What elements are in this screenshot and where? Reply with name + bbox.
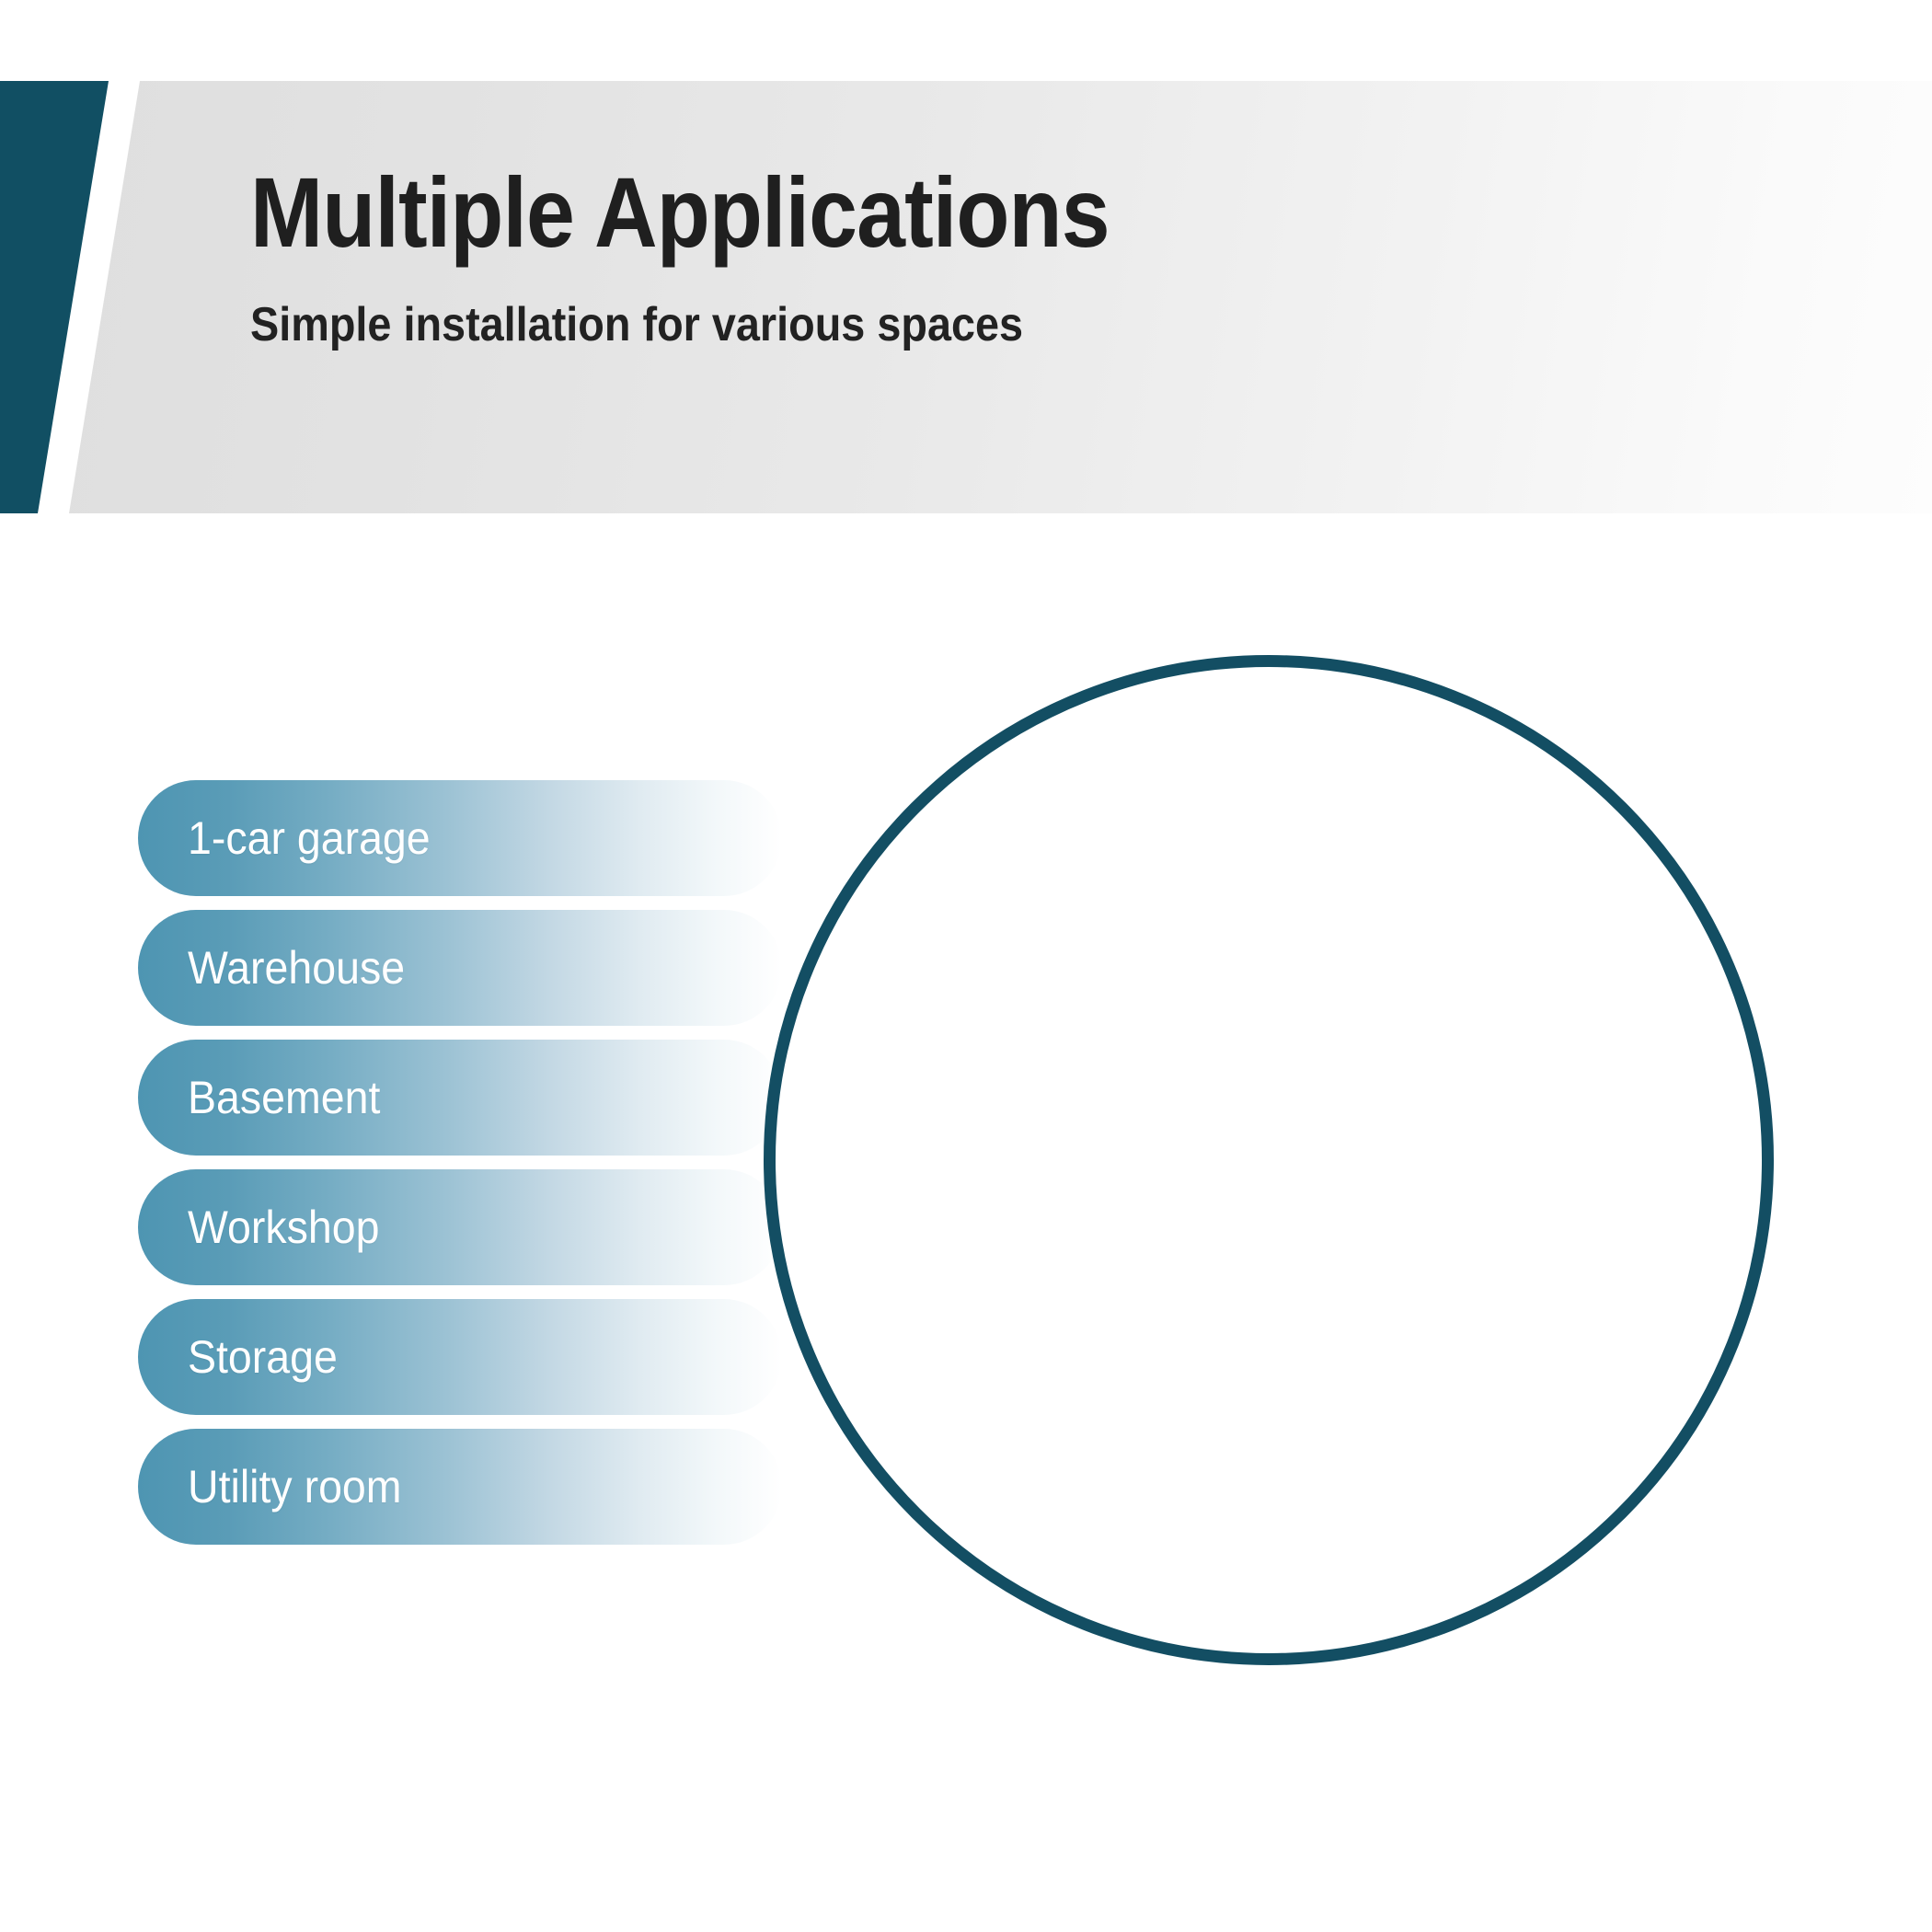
application-list: 1-car garage Warehouse Basement Workshop… (138, 780, 782, 1558)
product-circle-frame (764, 655, 1774, 1665)
list-item[interactable]: Workshop (138, 1169, 782, 1285)
page-title: Multiple Applications (250, 162, 1465, 263)
list-item[interactable]: 1-car garage (138, 780, 782, 896)
list-item-label: Basement (188, 1071, 380, 1124)
list-item-label: Warehouse (188, 941, 405, 995)
list-item-label: Utility room (188, 1460, 402, 1513)
list-item[interactable]: Utility room (138, 1429, 782, 1545)
header-banner: Multiple Applications Simple installatio… (0, 0, 1932, 552)
list-item-label: 1-car garage (188, 811, 431, 865)
list-item[interactable]: Basement (138, 1040, 782, 1156)
list-item[interactable]: Storage (138, 1299, 782, 1415)
page-subtitle: Simple installation for various spaces (250, 300, 1492, 351)
list-item-label: Storage (188, 1330, 338, 1384)
header-text-block: Multiple Applications Simple installatio… (250, 162, 1630, 351)
list-item[interactable]: Warehouse (138, 910, 782, 1026)
list-item-label: Workshop (188, 1201, 379, 1254)
